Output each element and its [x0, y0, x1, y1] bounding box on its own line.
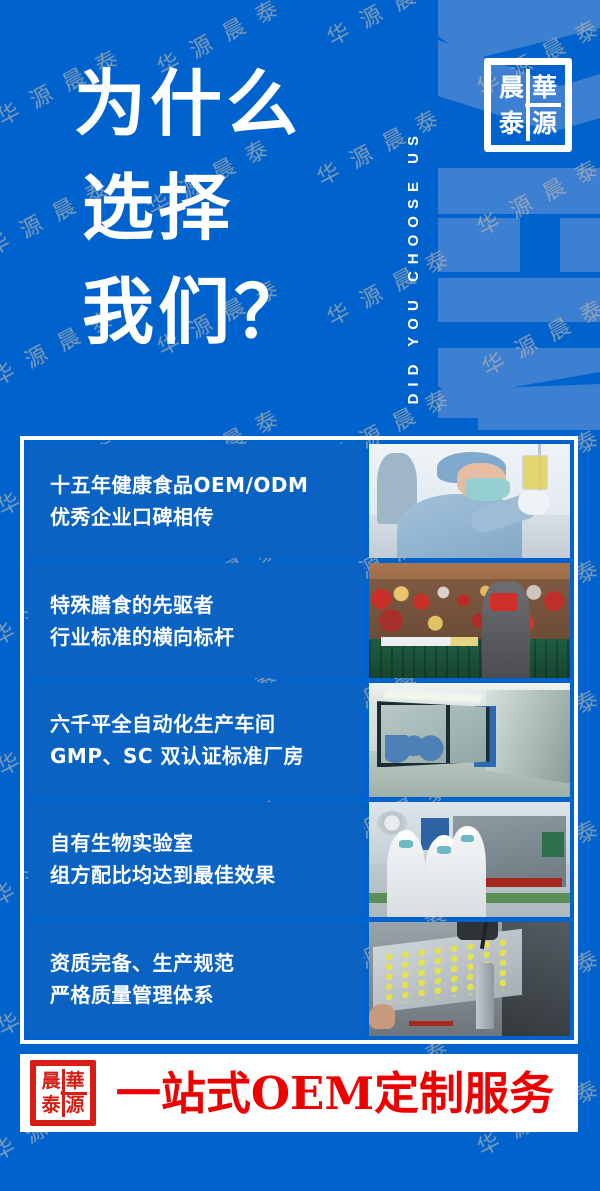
- bottom-cta-banner: 晨 華 泰 源 一站式OEM定制服务: [20, 1054, 578, 1132]
- list-item: 六千平全自动化生产车间 GMP、SC 双认证标准厂房: [28, 683, 570, 797]
- poster-header: 为什么 选择 我们？ DID YOU CHOOSE US 晨 華 泰 源: [0, 0, 600, 432]
- feature-text-line: 优秀企业口碑相传: [50, 501, 342, 533]
- conference-audience-photo: [369, 563, 570, 677]
- bottom-cta-text: 一站式OEM定制服务: [96, 1071, 570, 1116]
- lab-technician-iv-bag-photo: [369, 444, 570, 558]
- feature-text-line: 资质完备、生产规范: [50, 947, 342, 979]
- blister-packaging-machine-photo: [369, 922, 570, 1036]
- feature-card-1: 十五年健康食品OEM/ODM 优秀企业口碑相传: [28, 444, 364, 558]
- seal-divider-horizontal: [528, 103, 561, 107]
- feature-text-line: 严格质量管理体系: [50, 979, 342, 1011]
- seal-char-bottom-left: 泰: [499, 111, 524, 136]
- feature-text-line: 特殊膳食的先驱者: [50, 589, 342, 621]
- company-seal-logo: 晨 華 泰 源: [484, 58, 572, 152]
- production-line-workers-photo: [369, 802, 570, 916]
- seal-divider-horizontal: [63, 1092, 87, 1095]
- features-frame: 十五年健康食品OEM/ODM 优秀企业口碑相传 特殊膳食的先驱者 行业标准的横向…: [20, 436, 578, 1044]
- seal-char-top-left: 晨: [499, 75, 524, 100]
- seal-char-top-right: 華: [532, 75, 557, 100]
- seal-char-top-right: 華: [65, 1072, 84, 1091]
- page-title-line-2: 选择: [74, 156, 374, 260]
- seal-char-bottom-right: 源: [65, 1096, 84, 1115]
- feature-text-line: GMP、SC 双认证标准厂房: [50, 740, 342, 772]
- feature-card-4: 自有生物实验室 组方配比均达到最佳效果: [28, 802, 364, 916]
- list-item: 自有生物实验室 组方配比均达到最佳效果: [28, 802, 570, 916]
- feature-text-line: 行业标准的横向标杆: [50, 621, 342, 653]
- feature-text-line: 组方配比均达到最佳效果: [50, 859, 342, 891]
- list-item: 资质完备、生产规范 严格质量管理体系: [28, 922, 570, 1036]
- feature-card-5: 资质完备、生产规范 严格质量管理体系: [28, 922, 364, 1036]
- feature-text-line: 自有生物实验室: [50, 827, 342, 859]
- seal-char-bottom-left: 泰: [41, 1096, 60, 1115]
- seal-center-dot-icon: [61, 1091, 66, 1096]
- feature-card-3: 六千平全自动化生产车间 GMP、SC 双认证标准厂房: [28, 683, 364, 797]
- feature-card-2: 特殊膳食的先驱者 行业标准的横向标杆: [28, 563, 364, 677]
- vertical-eyebrow-text: DID YOU CHOOSE US: [398, 14, 428, 404]
- page-title: 为什么 选择 我们？: [74, 52, 374, 364]
- seal-center-dot-icon: [525, 102, 531, 108]
- feature-text-line: 六千平全自动化生产车间: [50, 708, 342, 740]
- list-item: 十五年健康食品OEM/ODM 优秀企业口碑相传: [28, 444, 570, 558]
- page-title-line-3: 我们？: [74, 260, 374, 364]
- cleanroom-corridor-photo: [369, 683, 570, 797]
- page-title-line-1: 为什么: [74, 52, 374, 156]
- list-item: 特殊膳食的先驱者 行业标准的横向标杆: [28, 563, 570, 677]
- seal-char-bottom-right: 源: [532, 111, 557, 136]
- vertical-eyebrow-label: DID YOU CHOOSE US: [405, 129, 422, 404]
- seal-char-top-left: 晨: [41, 1072, 60, 1091]
- feature-text-line: 十五年健康食品OEM/ODM: [50, 469, 342, 501]
- company-seal-logo-red: 晨 華 泰 源: [30, 1060, 96, 1126]
